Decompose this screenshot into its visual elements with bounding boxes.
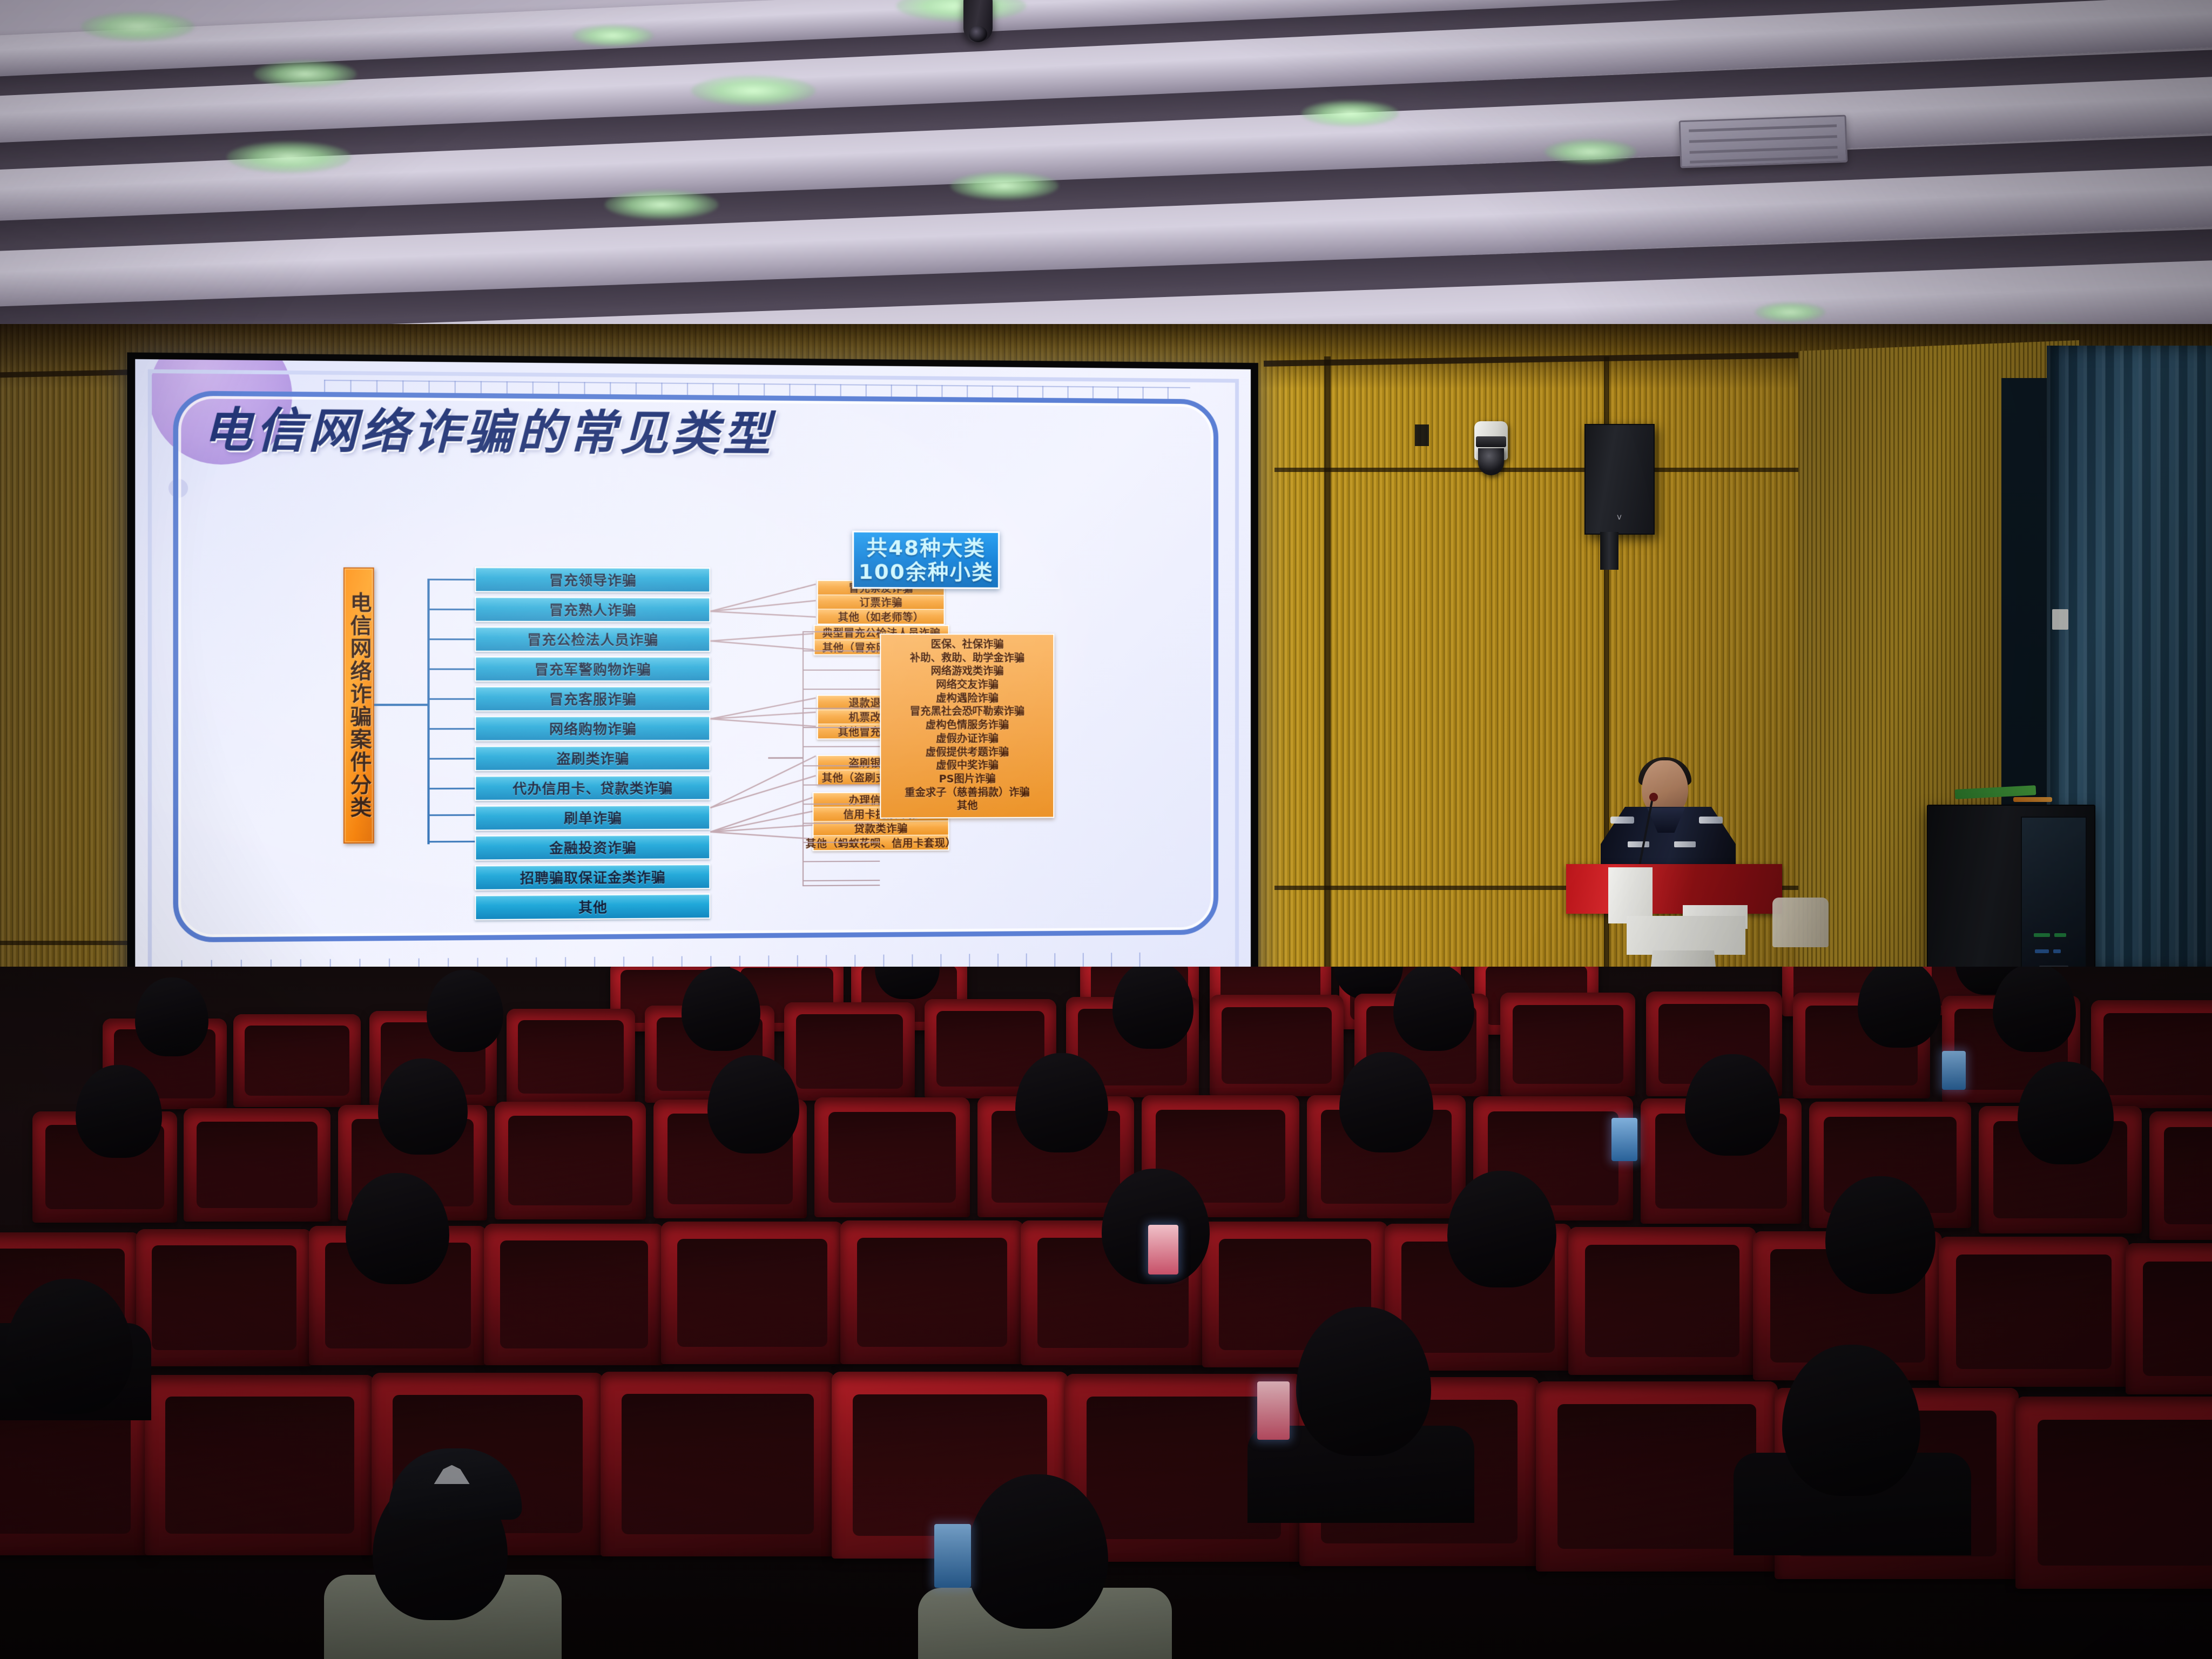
category-label: 代办信用卡、贷款类诈骗 <box>512 778 673 798</box>
seat[interactable] <box>484 1224 664 1365</box>
other-item: 重金求子（慈善捐款）诈骗 <box>883 786 1051 800</box>
other-item: 网络游戏类诈骗 <box>883 665 1051 678</box>
tree-trunk-line <box>427 579 429 845</box>
audience-head <box>1447 1171 1556 1287</box>
wall-panel-divider <box>1324 356 1331 994</box>
uniform-epaulet <box>1610 817 1634 824</box>
seat[interactable] <box>145 1375 375 1555</box>
seat[interactable] <box>495 1102 646 1219</box>
audience-head <box>1685 1054 1780 1156</box>
other-connector-ladder <box>802 631 880 886</box>
uniform-badge <box>1674 841 1696 847</box>
subitem-label: 其他（如老师等） <box>838 609 924 624</box>
lectern-face-panel <box>1608 867 1653 923</box>
other-item: 虚假办证诈骗 <box>883 732 1051 745</box>
other-item: 虚假中奖诈骗 <box>883 759 1051 773</box>
loudspeaker-bracket <box>1600 532 1618 570</box>
category-label: 金融投资诈骗 <box>549 837 637 857</box>
category-label: 招聘骗取保证金类诈骗 <box>520 867 666 887</box>
ceiling-light <box>81 12 194 41</box>
audience-head <box>1296 1307 1431 1456</box>
audience-head <box>1993 967 2076 1052</box>
seat[interactable] <box>184 1108 331 1222</box>
audience-head <box>427 970 503 1052</box>
slide-surface: 电信网络诈骗的常见类型 电信网络诈骗案件分类 冒充领导诈骗 冒充熟人诈骗 冒充 <box>135 359 1251 996</box>
category-column: 冒充领导诈骗 冒充熟人诈骗 冒充公检法人员诈骗 冒充军警购物诈骗 冒充客服诈骗 … <box>475 567 710 925</box>
ceiling-light <box>1755 302 1825 322</box>
slide-root-label: 电信网络诈骗案件分类 <box>347 592 370 819</box>
audience-head <box>682 967 760 1051</box>
subitem-label: 订票诈骗 <box>859 595 902 609</box>
audience-head <box>707 1055 799 1154</box>
category-box[interactable]: 冒充熟人诈骗 <box>475 597 710 623</box>
seat[interactable] <box>2015 1397 2212 1589</box>
curtain-tag <box>2052 609 2068 630</box>
lectern-top <box>1566 864 1782 914</box>
seat[interactable] <box>1568 1227 1756 1375</box>
rack-top-items <box>1955 784 2063 806</box>
other-item: 冒充黑社会恐吓勒索诈骗 <box>883 705 1051 719</box>
other-item: 网络交友诈骗 <box>883 678 1051 692</box>
other-item: 虚构色情服务诈骗 <box>883 719 1051 732</box>
seat[interactable] <box>1500 993 1635 1096</box>
phone-screen <box>1148 1225 1178 1274</box>
loudspeaker: v <box>1584 424 1655 535</box>
phone-screen <box>1611 1118 1637 1161</box>
seat[interactable] <box>661 1222 844 1364</box>
projection-screen: 电信网络诈骗的常见类型 电信网络诈骗案件分类 冒充领导诈骗 冒充熟人诈骗 冒充 <box>127 352 1258 1005</box>
category-label: 刷单诈骗 <box>564 807 622 827</box>
lectern-mid <box>1627 916 1745 955</box>
seat[interactable] <box>1939 1237 2129 1387</box>
category-box[interactable]: 盗刷类诈骗 <box>475 745 710 771</box>
side-chair <box>1772 898 1829 947</box>
ceiling-light <box>227 141 351 173</box>
wall-bracket <box>1415 424 1429 446</box>
category-label: 网络购物诈骗 <box>549 718 637 738</box>
other-item: 补助、救助、助学金诈骗 <box>883 651 1051 665</box>
seat[interactable] <box>2149 1111 2212 1240</box>
phone-screen <box>1942 1051 1966 1090</box>
ceiling-light <box>605 190 718 219</box>
audience-head <box>1858 967 1941 1048</box>
air-conditioner-vent <box>1679 115 1848 168</box>
category-box[interactable]: 其他 <box>475 893 710 920</box>
uniform-epaulet <box>1699 817 1723 824</box>
category-label: 冒充熟人诈骗 <box>549 599 637 619</box>
category-box[interactable]: 刷单诈骗 <box>475 805 710 831</box>
category-box[interactable]: 冒充军警购物诈骗 <box>475 656 710 682</box>
callout-line-1: 共48种大类 <box>866 536 986 560</box>
seat[interactable] <box>840 1220 1024 1364</box>
callout-line-2: 100余种小类 <box>859 559 994 584</box>
other-item: 虚构遇险诈骗 <box>883 692 1051 705</box>
ceiling <box>0 0 2212 378</box>
seat[interactable] <box>814 1097 970 1217</box>
root-connector-line <box>374 704 429 706</box>
seat[interactable] <box>2091 1000 2212 1108</box>
audience-head <box>967 1474 1108 1629</box>
auditorium-photo: v 电信网络诈骗的常见类型 电信网络诈骗案件分类 <box>0 0 2212 1659</box>
seat[interactable] <box>601 1372 835 1556</box>
subitem-row[interactable]: 其他（如老师等） <box>818 609 944 624</box>
category-box[interactable]: 冒充客服诈骗 <box>475 686 710 711</box>
seat[interactable] <box>507 1009 635 1105</box>
ceiling-light <box>572 25 653 46</box>
audience-head <box>5 1279 133 1414</box>
category-box[interactable]: 冒充领导诈骗 <box>475 567 710 592</box>
category-box[interactable]: 冒充公检法人员诈骗 <box>475 626 710 652</box>
slide-root-box: 电信网络诈骗案件分类 <box>343 568 374 844</box>
category-label: 冒充领导诈骗 <box>549 570 637 590</box>
other-item: PS图片诈骗 <box>883 772 1051 786</box>
audience-area <box>0 967 2212 1659</box>
category-label: 盗刷类诈骗 <box>556 748 629 768</box>
seat[interactable] <box>233 1014 361 1107</box>
ceiling-light <box>950 172 1058 200</box>
category-box[interactable]: 代办信用卡、贷款类诈骗 <box>475 775 710 801</box>
ceiling-light <box>691 76 815 106</box>
connector-lines <box>707 748 818 859</box>
category-box[interactable]: 金融投资诈骗 <box>475 834 710 861</box>
ceiling-light <box>1301 100 1399 126</box>
audience-head <box>135 977 208 1056</box>
ceiling-light <box>1545 139 1636 164</box>
category-label: 冒充客服诈骗 <box>549 689 637 709</box>
other-items-box: 医保、社保诈骗 补助、救助、助学金诈骗 网络游戏类诈骗 网络交友诈骗 虚构遇险诈… <box>880 633 1054 819</box>
phone-screen <box>1257 1381 1290 1440</box>
microphone-head <box>1649 793 1658 801</box>
audience-head <box>1339 1052 1433 1152</box>
category-label: 冒充公检法人员诈骗 <box>527 629 658 649</box>
audience-head <box>1112 967 1193 1049</box>
audience-head <box>76 1065 162 1158</box>
summary-callout: 共48种大类 100余种小类 <box>852 531 1000 589</box>
connector-lines <box>707 579 818 694</box>
phone-screen <box>934 1524 971 1588</box>
ptz-dome-camera-icon <box>1474 421 1508 478</box>
audience-head <box>2018 1062 2114 1164</box>
loudspeaker-logo: v <box>1617 512 1622 522</box>
rack-glass-door <box>2021 817 2087 979</box>
audience-head <box>346 1173 449 1284</box>
connector-lines <box>707 689 818 755</box>
seat[interactable] <box>2126 1243 2212 1394</box>
other-item: 其他 <box>883 799 1051 813</box>
cap-logo-icon <box>434 1465 470 1484</box>
audience-head <box>1782 1345 1920 1496</box>
subitem-row[interactable]: 订票诈骗 <box>818 595 944 610</box>
other-item: 虚假提供考题诈骗 <box>883 745 1051 759</box>
audience-head <box>1825 1176 1935 1294</box>
slide-title: 电信网络诈骗的常见类型 <box>203 391 878 465</box>
uniform-badge <box>1628 841 1649 847</box>
audience-head <box>1015 1053 1108 1152</box>
ceiling-light <box>254 60 356 87</box>
seat[interactable] <box>1210 995 1344 1096</box>
seat[interactable] <box>136 1229 312 1366</box>
other-connector-stem <box>768 757 804 759</box>
category-label: 冒充军警购物诈骗 <box>535 659 651 679</box>
category-box[interactable]: 招聘骗取保证金类诈骗 <box>475 864 710 890</box>
seat[interactable] <box>784 1002 915 1101</box>
audience-head <box>378 1058 468 1155</box>
ceiling-camera-icon <box>963 0 993 42</box>
other-item: 医保、社保诈骗 <box>883 638 1051 651</box>
category-label: 其他 <box>578 897 608 917</box>
audience-head <box>1393 967 1474 1051</box>
category-box[interactable]: 网络购物诈骗 <box>475 716 710 741</box>
